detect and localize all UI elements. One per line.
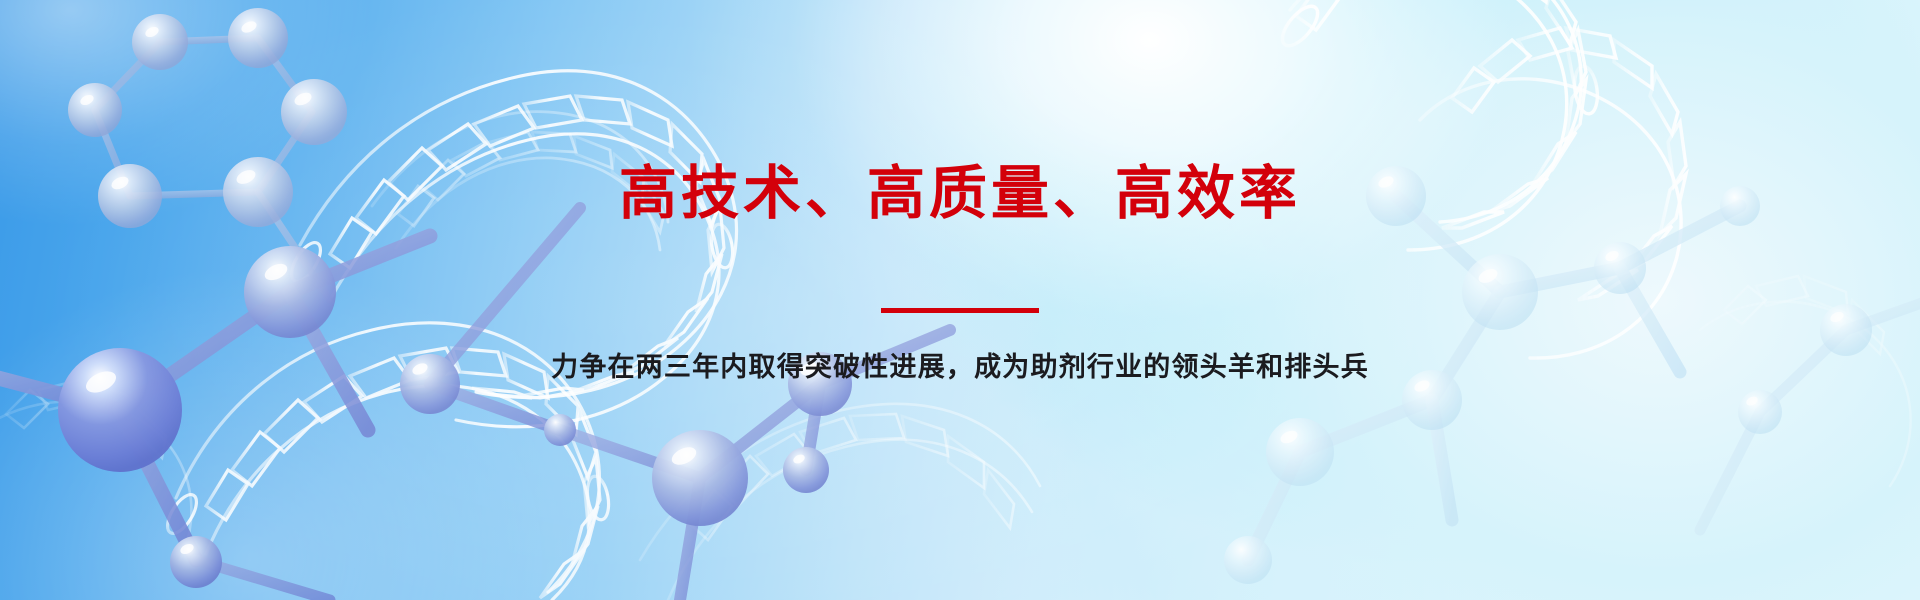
banner-subheadline: 力争在两三年内取得突破性进展，成为助剂行业的领头羊和排头兵: [0, 345, 1920, 384]
banner-content: 高技术、高质量、高效率 力争在两三年内取得突破性进展，成为助剂行业的领头羊和排头…: [0, 0, 1920, 600]
banner-headline: 高技术、高质量、高效率: [0, 164, 1920, 225]
red-divider-rule: [881, 308, 1039, 313]
hero-banner: 高技术、高质量、高效率 力争在两三年内取得突破性进展，成为助剂行业的领头羊和排头…: [0, 0, 1920, 600]
divider-wrap: [0, 300, 1920, 318]
